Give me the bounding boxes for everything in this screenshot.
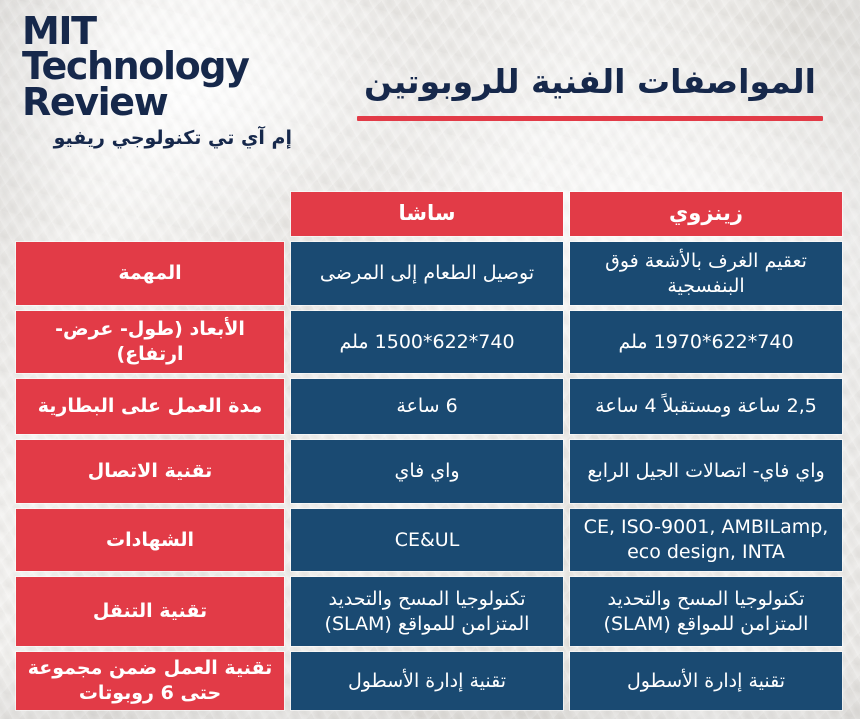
column-header-zenzoe: زينزوي [570, 192, 842, 236]
page-title: المواصفات الفنية للروبوتين [340, 62, 840, 102]
table-column-zenzoe: زينزوي تعقيم الغرف بالأشعة فوق البنفسجية… [570, 192, 842, 710]
infographic-header: MIT Technology Review إم آي تي تكنولوجي … [0, 0, 860, 180]
cell-zenzoe-certifications: CE, ISO-9001, AMBILamp, eco design, INTA [570, 509, 842, 571]
row-label-connectivity: تقنية الاتصال [16, 440, 284, 503]
logo-line-review: Review [22, 85, 292, 120]
row-label-navigation: تقنية التنقل [16, 577, 284, 646]
logo-arabic-subtitle: إم آي تي تكنولوجي ريفيو [22, 127, 292, 149]
cell-sasha-task: توصيل الطعام إلى المرضى [291, 242, 563, 305]
mit-technology-review-logo: MIT Technology Review إم آي تي تكنولوجي … [22, 14, 292, 149]
row-label-dimensions: الأبعاد (طول- عرض- ارتفاع) [16, 311, 284, 373]
cell-zenzoe-task: تعقيم الغرف بالأشعة فوق البنفسجية [570, 242, 842, 305]
table-column-labels: المهمة الأبعاد (طول- عرض- ارتفاع) مدة ال… [16, 192, 284, 710]
label-column-header-blank [16, 192, 284, 236]
cell-sasha-connectivity: واي فاي [291, 440, 563, 503]
title-underline-rule [357, 116, 823, 121]
cell-zenzoe-connectivity: واي فاي- اتصالات الجيل الرابع [570, 440, 842, 503]
row-label-fleet: تقنية العمل ضمن مجموعة حتى 6 روبوتات [16, 652, 284, 710]
cell-zenzoe-dimensions: 740*622*1970 ملم [570, 311, 842, 373]
cell-zenzoe-navigation: تكنولوجيا المسح والتحديد المتزامن للمواق… [570, 577, 842, 646]
row-label-task: المهمة [16, 242, 284, 305]
cell-zenzoe-fleet: تقنية إدارة الأسطول [570, 652, 842, 710]
row-label-battery: مدة العمل على البطارية [16, 379, 284, 434]
cell-sasha-battery: 6 ساعة [291, 379, 563, 434]
cell-sasha-certifications: CE&UL [291, 509, 563, 571]
cell-zenzoe-battery: 2,5 ساعة ومستقبلاً 4 ساعة [570, 379, 842, 434]
cell-sasha-navigation: تكنولوجيا المسح والتحديد المتزامن للمواق… [291, 577, 563, 646]
specs-table: المهمة الأبعاد (طول- عرض- ارتفاع) مدة ال… [16, 192, 842, 710]
cell-sasha-dimensions: 740*622*1500 ملم [291, 311, 563, 373]
title-block: المواصفات الفنية للروبوتين [340, 62, 840, 121]
table-column-sasha: ساشا توصيل الطعام إلى المرضى 740*622*150… [291, 192, 563, 710]
cell-sasha-fleet: تقنية إدارة الأسطول [291, 652, 563, 710]
row-label-certifications: الشهادات [16, 509, 284, 571]
column-header-sasha: ساشا [291, 192, 563, 236]
